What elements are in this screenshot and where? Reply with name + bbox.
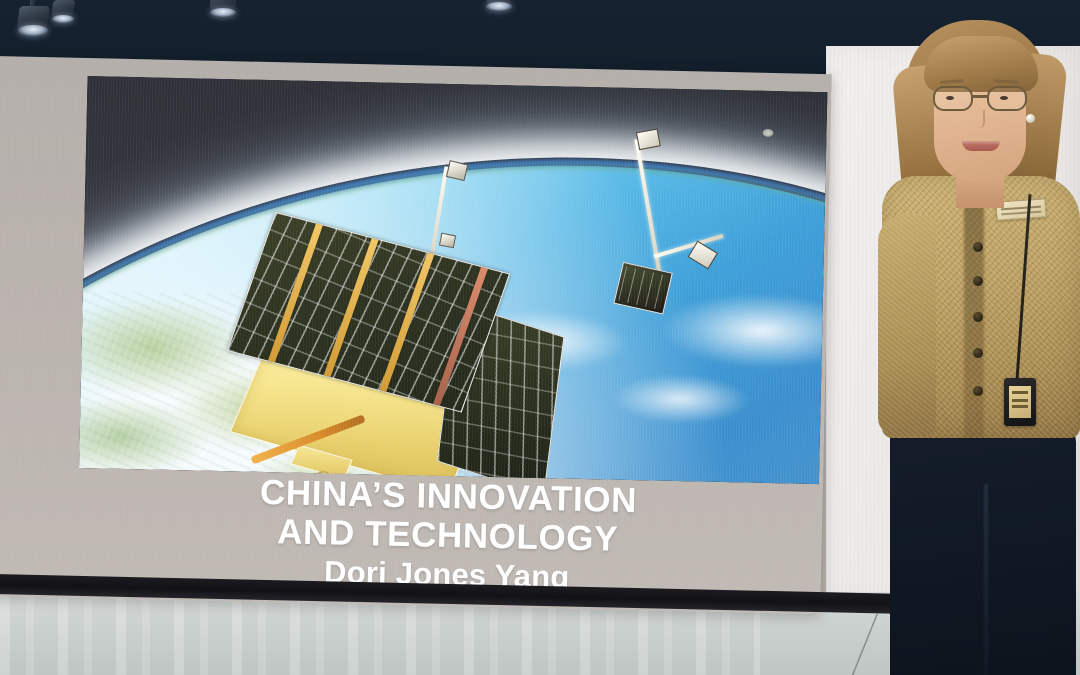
trouser-crease [984,484,988,675]
photo-scene: CHINA’S INNOVATION AND TECHNOLOGY Dori J… [0,0,1080,675]
jacket-button-4 [973,348,983,358]
jacket-button-5 [973,386,983,396]
secondary-cubesat [597,107,752,320]
slide-image [79,76,827,484]
projection-screen: CHINA’S INNOVATION AND TECHNOLOGY Dori J… [0,56,832,614]
jacket-button-1 [973,242,983,252]
trousers [890,422,1076,675]
eyeglasses-icon [932,86,1028,112]
cubesat-body-small [613,262,672,315]
mouth [962,141,1000,151]
jacket-button-2 [973,276,983,286]
jacket-sleeve-left [878,214,936,436]
badge-holder [1004,378,1036,426]
speaker [876,14,1080,675]
earring [1026,114,1035,123]
jacket-button-3 [973,312,983,322]
nose [975,110,985,128]
boom-node-mid [439,233,456,249]
main-cubesat [229,179,565,476]
boom-tip-upper [636,128,661,150]
